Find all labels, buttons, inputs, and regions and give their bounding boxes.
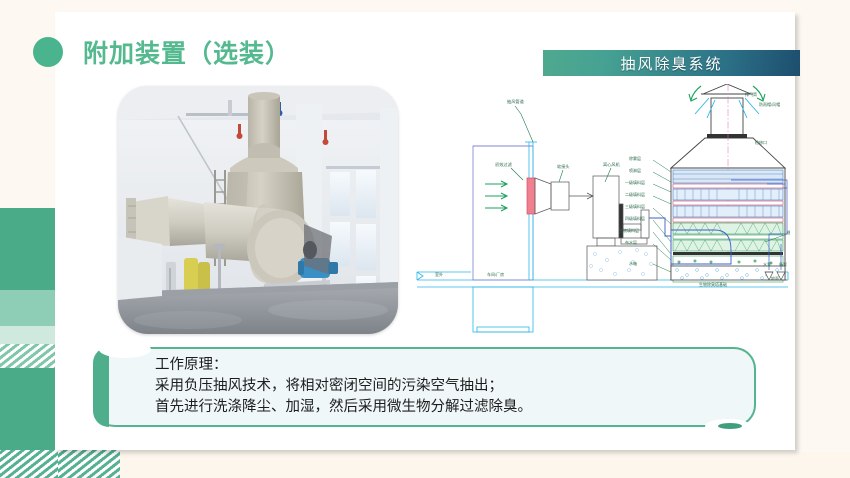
page-title: 附加装置（选装） [83, 34, 291, 70]
svg-text:离心风机: 离心风机 [603, 161, 621, 168]
svg-text:三级填料层: 三级填料层 [625, 203, 645, 209]
svg-text:除雾层: 除雾层 [629, 155, 641, 161]
process-diagram: 抽风管道 初效过滤 [415, 84, 790, 336]
svg-text:布水层: 布水层 [625, 239, 637, 245]
note-accent-dot [718, 423, 742, 429]
svg-text:喷淋层: 喷淋层 [629, 167, 641, 173]
svg-text:软接头: 软接头 [557, 163, 570, 170]
equipment-photo [118, 86, 398, 334]
left-band-3 [0, 326, 58, 344]
principle-note-box: 工作原理： 采用负压抽风技术，将相对密闭空间的污染空气抽出； 首先进行洗涤降尘、… [93, 347, 756, 427]
svg-text:生物填料层: 生物填料层 [619, 227, 639, 233]
svg-text:水泵: 水泵 [763, 261, 771, 267]
svg-text:水箱: 水箱 [629, 260, 637, 266]
svg-text:检修口: 检修口 [755, 139, 767, 145]
svg-text:循环水管: 循环水管 [787, 229, 790, 235]
svg-text:一级填料层: 一级填料层 [625, 179, 645, 185]
slide-canvas: 附加装置（选装） 抽风除臭系统 [55, 12, 795, 450]
left-tab-striped [58, 448, 120, 478]
left-band-1 [0, 208, 58, 290]
principle-text: 工作原理： 采用负压抽风技术，将相对密闭空间的污染空气抽出； 首先进行洗涤降尘、… [155, 355, 736, 418]
left-band-striped-2 [0, 450, 58, 478]
svg-text:排气筒: 排气筒 [745, 91, 757, 97]
svg-text:二级填料层: 二级填料层 [625, 191, 645, 197]
left-band-4 [0, 368, 58, 450]
slide-title-row: 附加装置（选装） [33, 34, 291, 70]
note-left-accent [93, 347, 109, 427]
svg-text:初效过滤: 初效过滤 [495, 161, 513, 168]
note-notch-top [99, 341, 151, 358]
left-band-2 [0, 290, 58, 326]
section-banner-label: 抽风除臭系统 [620, 53, 722, 74]
svg-text:地面: 地面 [771, 275, 779, 281]
svg-text:生物除臭塔基础: 生物除臭塔基础 [699, 281, 727, 287]
svg-text:抽风管道: 抽风管道 [507, 98, 525, 105]
svg-text:备泵: 备泵 [779, 261, 787, 267]
svg-text:四级填料层: 四级填料层 [625, 215, 645, 221]
section-banner: 抽风除臭系统 [543, 50, 800, 76]
left-band-striped-1 [0, 344, 58, 368]
svg-text:防雨帽/风帽: 防雨帽/风帽 [759, 101, 780, 107]
svg-text:车间/厂房: 车间/厂房 [487, 271, 504, 277]
bullet-circle-icon [33, 37, 63, 67]
svg-text:室外: 室外 [435, 271, 443, 277]
bottom-cream-band [0, 452, 850, 478]
